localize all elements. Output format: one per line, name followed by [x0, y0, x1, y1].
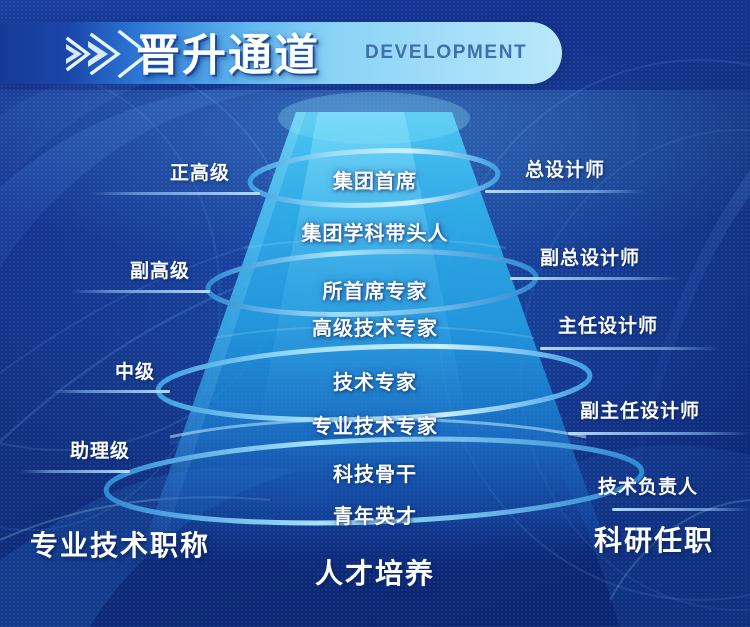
right-rank-label: 总设计师	[525, 155, 605, 182]
left-rank-label: 助理级	[70, 436, 130, 463]
left-rank-label: 副高级	[130, 256, 190, 283]
page-title-cn: 晋升通道	[136, 19, 320, 83]
right-rank-divider	[485, 190, 645, 193]
left-rank-label: 正高级	[170, 158, 230, 185]
left-rank-divider	[20, 470, 130, 473]
promo-graphic-root: 晋升通道 DEVELOPMENT 集团首席 集团学科带头人 所首席专家 高级技术…	[0, 0, 750, 627]
right-rank-divider	[568, 432, 750, 435]
page-title-en: DEVELOPMENT	[365, 42, 527, 64]
right-rank-label: 副主任设计师	[580, 396, 700, 423]
right-rank-label: 技术负责人	[598, 472, 698, 499]
tier-label: 集团学科带头人	[0, 217, 750, 246]
right-rank-divider	[510, 277, 680, 280]
right-rank-divider	[540, 347, 720, 350]
right-rank-label: 主任设计师	[558, 311, 658, 338]
right-rank-label: 副总设计师	[540, 243, 640, 270]
footer-left-heading: 专业技术职称	[30, 524, 210, 564]
footer-center-heading: 人才培养	[315, 552, 435, 592]
footer-right-heading: 科研任职	[594, 519, 714, 559]
left-rank-label: 中级	[115, 357, 155, 384]
left-rank-divider	[50, 390, 170, 393]
left-rank-divider	[90, 192, 260, 195]
left-rank-divider	[70, 290, 210, 293]
right-rank-divider	[612, 508, 750, 511]
